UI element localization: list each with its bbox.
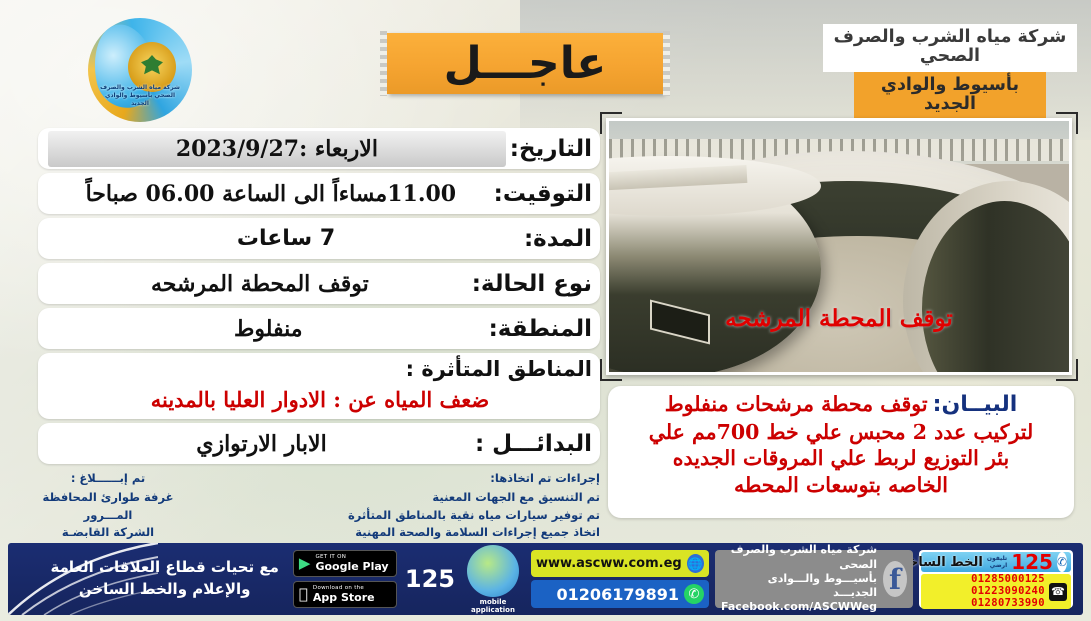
eagle-icon: [141, 55, 163, 79]
logo-caption: شركة مياه الشرب والصرف الصحي بأسيوط والو…: [96, 84, 184, 108]
info-value-area: منفلوط: [48, 309, 489, 349]
facebook-text: شركة مياه الشرب والصرف الصحى بأسيـــوط و…: [721, 543, 877, 614]
store-badges: ▶ GET IT ON Google Play  Download on th…: [293, 550, 397, 608]
info-row-affected-areas: المناطق المتأثرة : ضعف المياه عن : الادو…: [38, 353, 600, 419]
company-name: شركة مياه الشرب والصرف الصحي: [823, 24, 1077, 72]
app-store-text: Download on the App Store: [313, 586, 375, 603]
website-url: www.ascww.com.eg: [536, 556, 682, 571]
mobile-app-logo: mobile application: [457, 545, 529, 614]
facebook-url: Facebook.com/ASCWWeg: [721, 600, 877, 614]
notified-parties-item: الشركة القابضـة: [38, 524, 178, 542]
company-logo: شركة مياه الشرب والصرف الصحي بأسيوط والو…: [88, 18, 192, 122]
google-play-big: Google Play: [315, 561, 388, 573]
info-value-alternatives: الابار الارتوازي: [48, 424, 475, 464]
info-value-time: 11.00مساءاً الى الساعة 06.00 صباحاً: [48, 174, 494, 214]
info-rows: التاريخ: الاربعاء :2023/9/27 التوقيت: 11…: [38, 128, 600, 468]
apple-icon: : [299, 587, 308, 602]
statement-line-3: بئر التوزيع لربط علي المروقات الجديده: [620, 445, 1062, 472]
info-row-duration: المدة: 7 ساعات: [38, 218, 600, 259]
measures-taken-item: تم التنسيق مع الجهات المعنية: [348, 489, 600, 507]
info-label-alternatives: البدائـــل :: [475, 424, 592, 464]
google-play-icon: ▶: [299, 556, 311, 571]
info-value-date: الاربعاء :2023/9/27: [48, 131, 506, 167]
photo-caption: توقف المحطة المرشحه: [609, 305, 1069, 332]
info-row-area: المنطقة: منفلوط: [38, 308, 600, 349]
hotline-phone-numbers: 01285000125 01223090240 01280733990: [971, 574, 1045, 609]
statement-block: البيــان: توقف محطة مرشحات منفلوط لتركيب…: [608, 386, 1074, 518]
footer-greeting: مع تحيات قطاع العلاقات العامة والإعلام و…: [50, 557, 278, 601]
info-label-area: المنطقة:: [489, 309, 592, 349]
app-store-badge[interactable]:  Download on the App Store: [293, 581, 397, 608]
greeting-line-1: مع تحيات قطاع العلاقات العامة: [50, 557, 278, 579]
statement-label: البيــان: [941, 391, 1017, 419]
phone-call-icon: ✆: [1057, 552, 1067, 572]
google-play-badge[interactable]: ▶ GET IT ON Google Play: [293, 550, 397, 577]
footer-bar: ✆ 125 تليفون ارضي الخط الساخن ☎ 01285000…: [8, 543, 1083, 615]
hotline-top: ✆ 125 تليفون ارضي الخط الساخن: [921, 552, 1071, 572]
info-row-alternatives: البدائـــل : الابار الارتوازي: [38, 423, 600, 464]
company-region: بأسيوط والوادي الجديد: [854, 72, 1046, 120]
hotline-bottom: ☎ 01285000125 01223090240 01280733990: [921, 574, 1071, 609]
notified-parties-item: المـــرور: [38, 507, 178, 525]
info-label-affected-areas: المناطق المتأثرة :: [48, 355, 592, 383]
whatsapp-number: 01206179891: [557, 585, 679, 604]
statement-line-1: توقف محطة مرشحات منفلوط: [665, 392, 928, 416]
info-label-time: التوقيت:: [494, 174, 592, 214]
measures-block: إجراءات تم اتخاذها: تم التنسيق مع الجهات…: [38, 470, 600, 542]
facebook-block[interactable]: f شركة مياه الشرب والصرف الصحى بأسيـــوط…: [715, 550, 913, 608]
station-photo: توقف المحطة المرشحه: [606, 118, 1072, 375]
mobile-app-icon: [467, 545, 519, 597]
facebook-company-line1: شركة مياه الشرب والصرف الصحى: [721, 543, 877, 572]
whatsapp-icon: ✆: [684, 584, 704, 604]
hotline-sub: تليفون ارضي: [987, 555, 1007, 569]
mobile-app-caption: mobile application: [457, 598, 529, 614]
website-row[interactable]: 🌐 www.ascww.com.eg: [531, 550, 709, 577]
info-label-case-type: نوع الحالة:: [472, 264, 592, 304]
greeting-line-2: والإعلام والخط الساخن: [50, 579, 278, 601]
statement-first-line-wrapper: البيــان: توقف محطة مرشحات منفلوط: [620, 391, 1062, 419]
telephone-icon: ☎: [1049, 583, 1067, 601]
notified-parties-item: غرفة طوارئ المحافظة: [38, 489, 178, 507]
whatsapp-row[interactable]: ✆ 01206179891: [531, 580, 709, 608]
google-play-text: GET IT ON Google Play: [315, 555, 388, 572]
info-value-case-type: توقف المحطة المرشحه: [48, 264, 472, 304]
measures-taken-column: إجراءات تم اتخاذها: تم التنسيق مع الجهات…: [334, 470, 600, 542]
notified-parties-heading: تم إبــــــلاغ :: [38, 470, 178, 488]
hotline-badge[interactable]: ✆ 125 تليفون ارضي الخط الساخن ☎ 01285000…: [919, 550, 1073, 608]
urgent-banner: عاجـــل: [387, 33, 663, 94]
measures-taken-item: تم توفير سيارات مياه نقية بالمناطق المتأ…: [348, 507, 600, 525]
hotline-number: 125: [1011, 552, 1053, 572]
facebook-icon: f: [883, 561, 907, 597]
urgent-label: عاجـــل: [444, 42, 607, 86]
photo-frame: توقف المحطة المرشحه: [606, 118, 1072, 375]
contact-block: 🌐 www.ascww.com.eg ✆ 01206179891: [531, 550, 709, 608]
notified-parties-column: تم إبــــــلاغ : غرفة طوارئ المحافظة الم…: [38, 470, 188, 542]
statement-colon: :: [933, 391, 942, 419]
globe-icon: 🌐: [687, 554, 704, 573]
statement-line-4: الخاصه بتوسعات المحطه: [620, 472, 1062, 499]
info-value-affected-areas: ضعف المياه عن : الادوار العليا بالمدينه: [48, 383, 592, 412]
measures-taken-item: اتخاذ جميع إجراءات السلامة والصحة المهني…: [348, 524, 600, 542]
statement-line-2: لتركيب عدد 2 محبس علي خط 700مم علي: [620, 419, 1062, 446]
info-row-time: التوقيت: 11.00مساءاً الى الساعة 06.00 صب…: [38, 173, 600, 214]
info-value-duration: 7 ساعات: [48, 219, 524, 259]
poster-root: شركة مياه الشرب والصرف الصحي بأسيوط والو…: [0, 0, 1091, 621]
facebook-company-line2: بأسيـــوط والـــوادى الجديـــد: [721, 572, 877, 601]
info-label-date: التاريخ:: [510, 129, 592, 169]
info-row-date: التاريخ: الاربعاء :2023/9/27: [38, 128, 600, 169]
affected-areas-stack: المناطق المتأثرة : ضعف المياه عن : الادو…: [48, 355, 592, 412]
info-row-case-type: نوع الحالة: توقف المحطة المرشحه: [38, 263, 600, 304]
measures-taken-heading: إجراءات تم اتخاذها:: [348, 470, 600, 488]
app-store-big: App Store: [313, 592, 375, 604]
footer-short-code: 125: [405, 565, 455, 593]
info-label-duration: المدة:: [524, 219, 592, 259]
